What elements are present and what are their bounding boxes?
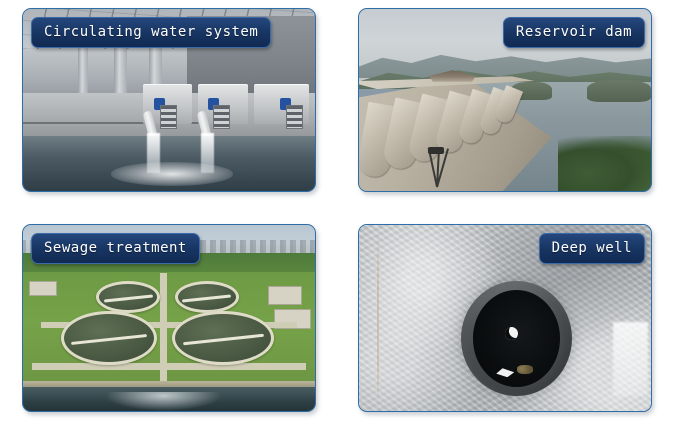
panel-caption-sewage-treatment: Sewage treatment	[31, 233, 200, 264]
photo-panel-reservoir-dam[interactable]: Reservoir dam	[358, 8, 652, 192]
photo-panel-sewage-treatment[interactable]: Sewage treatment	[22, 224, 316, 412]
panel-caption-deep-well: Deep well	[539, 233, 645, 264]
panel-caption-circulating-water-system: Circulating water system	[31, 17, 271, 48]
photo-panel-deep-well[interactable]: Deep well	[358, 224, 652, 412]
tripod-icon	[426, 147, 448, 187]
photo-panel-circulating-water-system[interactable]: Circulating water system	[22, 8, 316, 192]
panel-caption-reservoir-dam: Reservoir dam	[503, 17, 645, 48]
photo-gallery: Circulating water system Reservoir	[0, 0, 680, 435]
